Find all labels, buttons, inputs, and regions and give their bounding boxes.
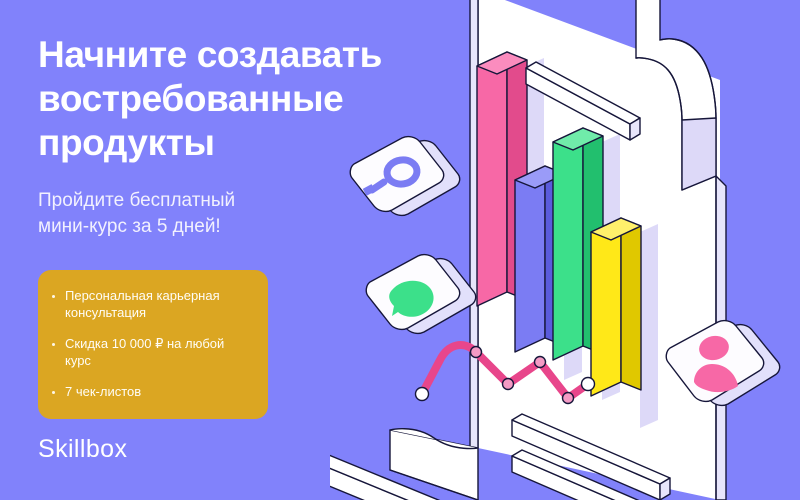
bullet-icon <box>52 343 55 346</box>
benefit-text: 7 чек-листов <box>65 383 141 400</box>
page-title: Начните создавать востребованные продукт… <box>38 33 438 165</box>
bar-4-yellow <box>591 218 641 396</box>
benefits-card: Персональная карьерная консультация Скид… <box>38 270 268 419</box>
subtitle: Пройдите бесплатный мини-курс за 5 дней! <box>38 188 338 240</box>
list-item: Персональная карьерная консультация <box>52 287 250 321</box>
benefit-text: Скидка 10 000 ₽ на любой курс <box>65 335 250 369</box>
brand-logo[interactable]: Skillbox <box>38 434 127 464</box>
text-column: Начните создавать востребованные продукт… <box>38 0 368 500</box>
bullet-icon <box>52 391 55 394</box>
bullet-icon <box>52 295 55 298</box>
list-item: 7 чек-листов <box>52 383 250 400</box>
chat-card[interactable] <box>366 255 475 334</box>
benefit-text: Персональная карьерная консультация <box>65 287 250 321</box>
promo-banner: Начните создавать востребованные продукт… <box>0 0 800 500</box>
list-item: Скидка 10 000 ₽ на любой курс <box>52 335 250 369</box>
